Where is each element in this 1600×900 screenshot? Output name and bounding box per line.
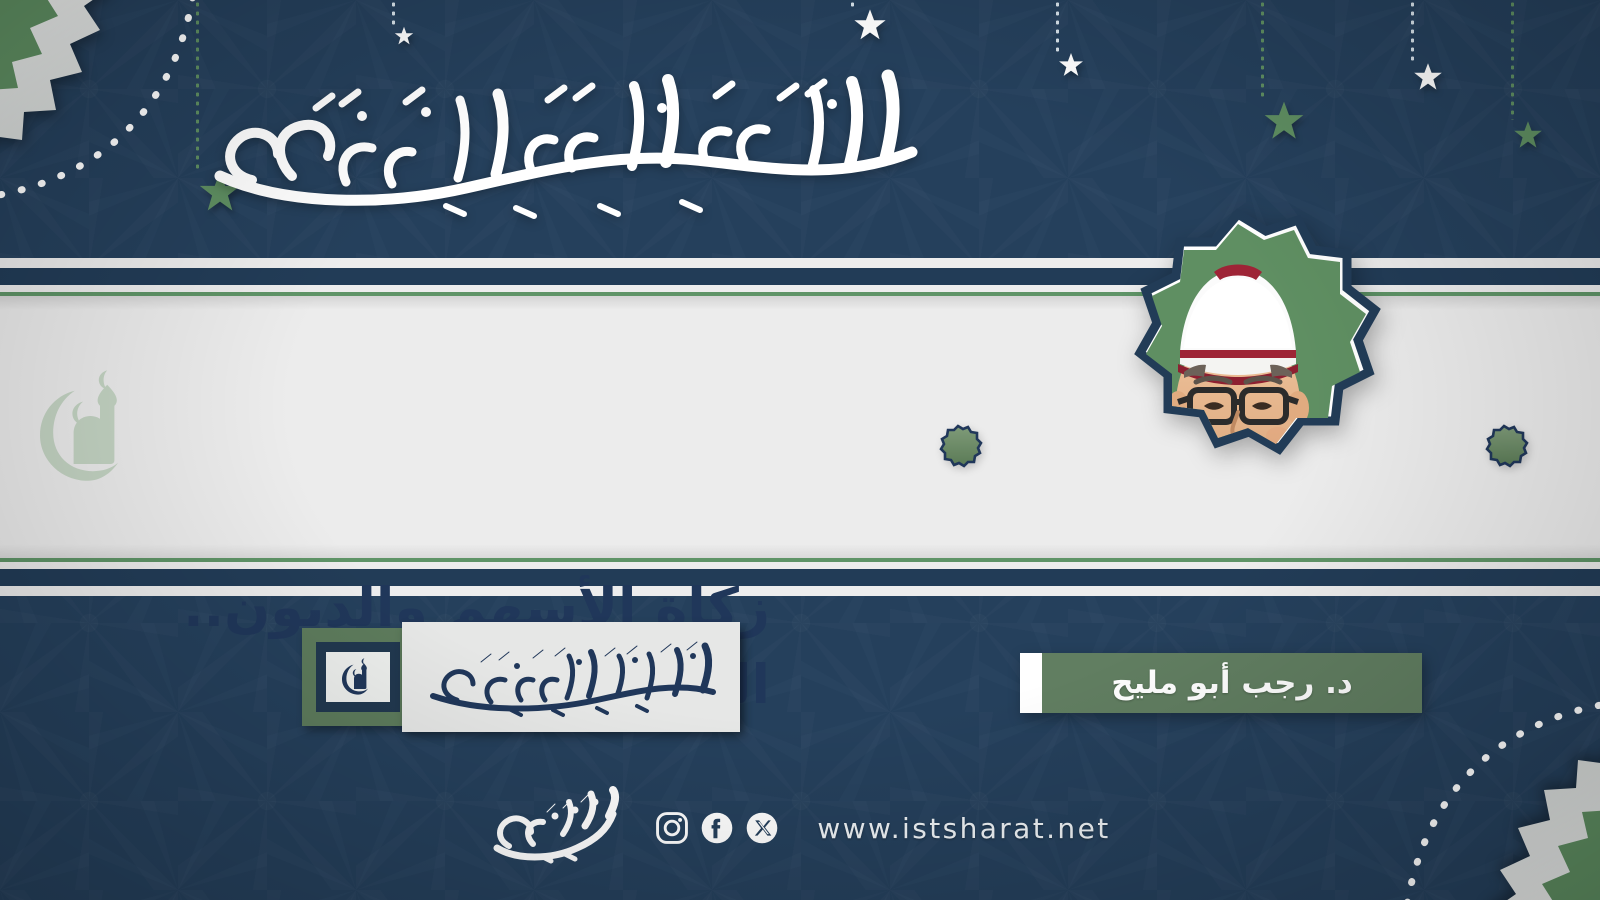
poster-canvas: زكاة الأسهم والديون.. النية هي الفيصل [0,0,1600,900]
vignette-overlay [0,0,1600,900]
